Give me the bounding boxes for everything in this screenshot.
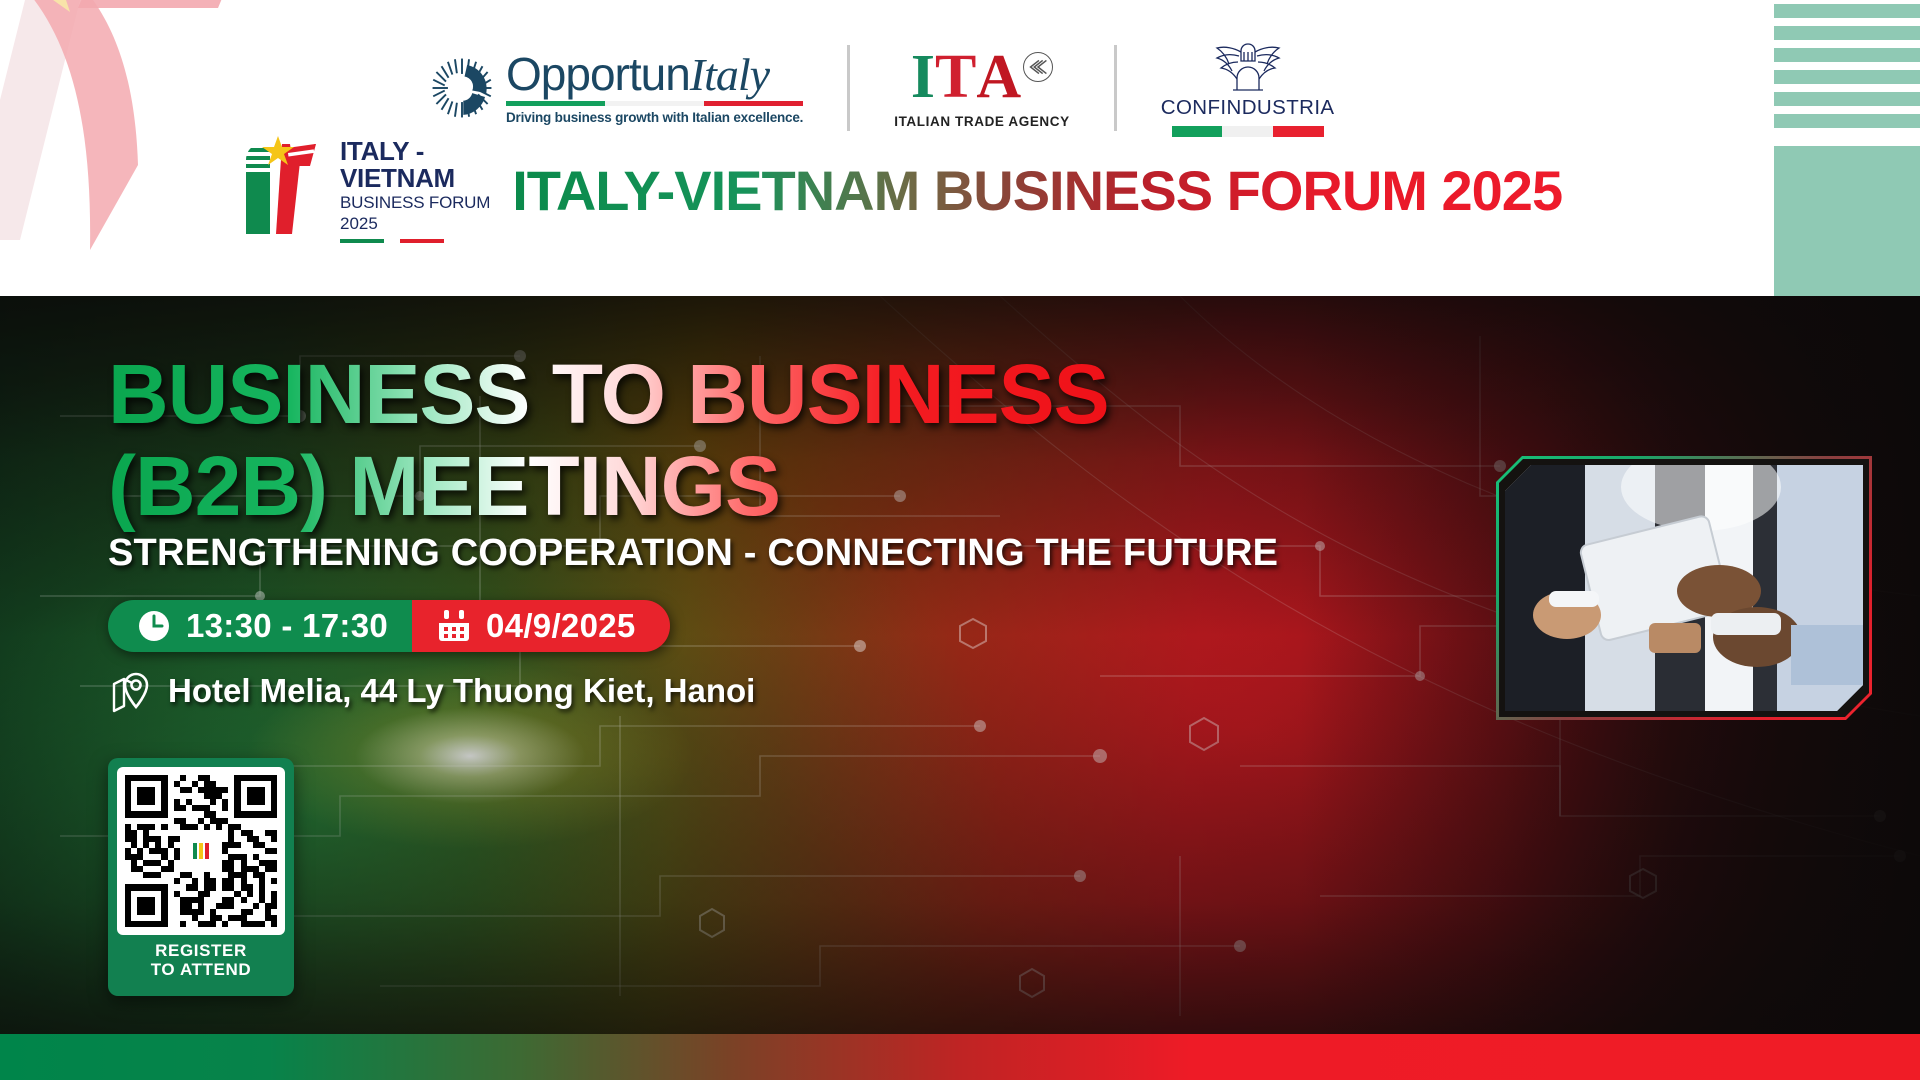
italy-flag-bar [506,101,803,106]
burst-icon [430,56,494,120]
hero-subheadline: STRENGTHENING COOPERATION - CONNECTING T… [108,532,1278,575]
eagle-icon [1211,40,1285,94]
date-text: 04/9/2025 [486,607,636,645]
iv-logo-line4: 2025 [340,213,490,234]
italy-vietnam-mark-icon [236,130,332,250]
ita-letter-t: T [935,48,976,106]
calendar-icon [436,608,472,644]
photo-image-1 [1505,465,1863,711]
event-info-badges: 13:30 - 17:30 04/9/2025 [108,600,670,652]
ita-subtitle: ITALIAN TRADE AGENCY [894,114,1070,129]
qr-caption-line1: REGISTER [117,941,285,960]
opportunitaly-word-b: Italy [690,49,769,100]
headline-line-2: (B2B) MEETINGS [108,440,1109,532]
venue-text: Hotel Melia, 44 Ly Thuong Kiet, Hanoi [168,672,755,710]
logo-ita[interactable]: I T A ITALIAN TRADE AGENCY [894,48,1070,129]
qr-caption: REGISTER TO ATTEND [117,941,285,979]
poster-root: OpportunItaly Driving business growth wi… [0,0,1920,1080]
opportunitaly-word-a: Opportun [506,48,690,100]
hero-headline: BUSINESS TO BUSINESS (B2B) MEETINGS [108,348,1109,532]
forum-title: ITALY-VIETNAM BUSINESS FORUM 2025 [512,158,1562,223]
watermark-stripes-right [1760,0,1920,296]
logo-confindustria[interactable]: CONFINDUSTRIA [1161,40,1335,137]
logo-divider-1 [847,45,850,131]
logo-italy-vietnam-forum[interactable]: ITALY - VIETNAM BUSINESS FORUM 2025 [236,130,490,250]
partner-logos-row: OpportunItaly Driving business growth wi… [430,38,1335,138]
qr-code-icon[interactable] [117,767,285,935]
ita-arrows-icon [1023,52,1053,82]
confindustria-label: CONFINDUSTRIA [1161,96,1335,120]
clock-icon [136,608,172,644]
bottom-accent-bar [0,1034,1920,1080]
qr-caption-line2: TO ATTEND [117,960,285,979]
iv-logo-line3: BUSINESS FORUM [340,192,490,213]
register-qr-card[interactable]: REGISTER TO ATTEND [108,758,294,996]
opportunitaly-tagline: Driving business growth with Italian exc… [506,110,803,125]
map-pin-icon [108,668,154,714]
time-text: 13:30 - 17:30 [186,607,388,645]
ita-letter-i: I [911,48,935,106]
headline-line-1: BUSINESS TO BUSINESS [108,348,1109,440]
photo-clip-1 [1505,465,1863,711]
iv-logo-line2: VIETNAM [340,165,490,192]
qr-center-logo [181,838,221,864]
forum-brand-row: ITALY - VIETNAM BUSINESS FORUM 2025 ITAL… [236,130,1562,250]
logo-opportunitaly[interactable]: OpportunItaly Driving business growth wi… [430,51,803,125]
header-bar: OpportunItaly Driving business growth wi… [0,0,1920,296]
date-badge: 04/9/2025 [412,600,670,652]
photo-tablet-devices[interactable] [1496,456,1872,720]
iv-logo-line1: ITALY - [340,138,490,165]
venue-row: Hotel Melia, 44 Ly Thuong Kiet, Hanoi [108,668,755,714]
iv-logo-flag-bars [340,239,490,243]
logo-divider-2 [1114,45,1117,131]
ita-letter-a: A [976,48,1021,106]
hero-section: BUSINESS TO BUSINESS (B2B) MEETINGS STRE… [0,296,1920,1034]
time-badge: 13:30 - 17:30 [108,600,412,652]
